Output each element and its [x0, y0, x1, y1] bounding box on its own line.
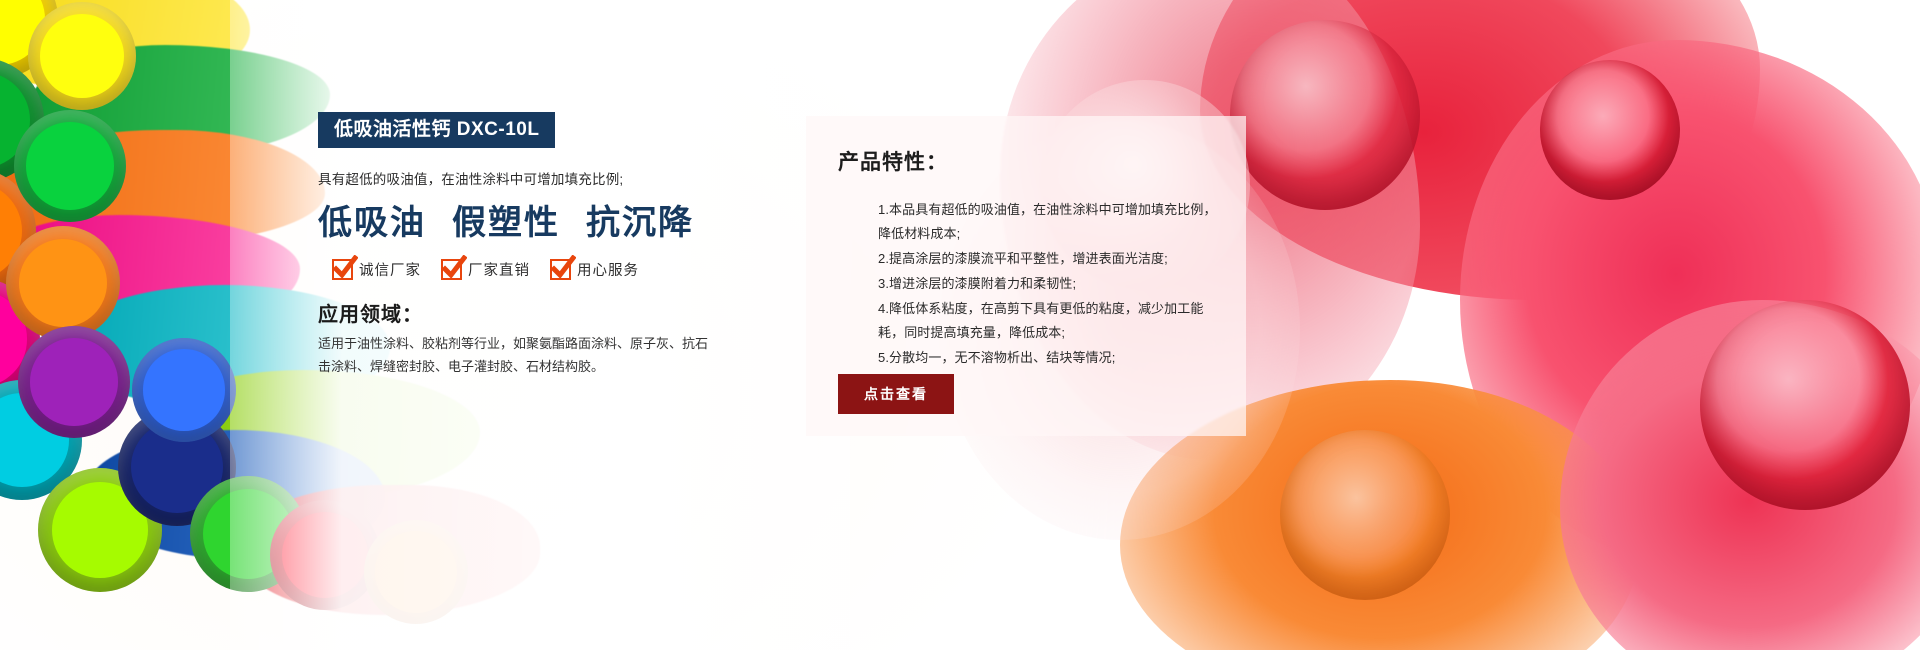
paint-ring-bottom	[1280, 430, 1450, 600]
product-subtitle: 具有超低的吸油值，在油性涂料中可增加填充比例;	[318, 170, 718, 190]
trust-badge-1-label: 诚信厂家	[359, 259, 421, 280]
paint-can-purple	[18, 326, 130, 438]
headline-word-3: 抗沉降	[586, 204, 694, 242]
trust-badge-2: 厂家直销	[441, 259, 530, 280]
feature-item: 4.降低体系粘度，在高剪下具有更低的粘度，减少加工能耗，同时提高填充量，降低成本…	[878, 297, 1220, 345]
product-features-panel: 产品特性： 1.本品具有超低的吸油值，在油性涂料中可增加填充比例，降低材料成本;…	[806, 116, 1246, 436]
features-list: 1.本品具有超低的吸油值，在油性涂料中可增加填充比例，降低材料成本; 2.提高涂…	[838, 198, 1220, 370]
product-banner: 低吸油活性钙 DXC-10L 具有超低的吸油值，在油性涂料中可增加填充比例; 低…	[0, 0, 1920, 650]
application-fields-body: 适用于油性涂料、胶粘剂等行业，如聚氨酯路面涂料、原子灰、抗石击涂料、焊缝密封胶、…	[318, 333, 718, 379]
features-panel-title: 产品特性：	[838, 146, 1220, 176]
feature-item: 2.提高涂层的漆膜流平和平整性，增进表面光洁度;	[878, 247, 1220, 271]
panel-inner: 产品特性： 1.本品具有超低的吸油值，在油性涂料中可增加填充比例，降低材料成本;…	[806, 116, 1246, 370]
trust-badge-3: 用心服务	[550, 259, 639, 280]
checkbox-check-icon	[550, 259, 571, 280]
paint-can-orange-2	[6, 226, 120, 340]
trust-badge-2-label: 厂家直销	[468, 259, 530, 280]
feature-item: 1.本品具有超低的吸油值，在油性涂料中可增加填充比例，降低材料成本;	[878, 198, 1220, 246]
trust-badge-1: 诚信厂家	[332, 259, 421, 280]
view-details-button[interactable]: 点击查看	[838, 374, 954, 414]
paint-ring-top-left	[1230, 20, 1420, 210]
feature-item: 5.分散均一，无不溶物析出、结块等情况;	[878, 346, 1220, 370]
product-title-badge: 低吸油活性钙 DXC-10L	[318, 112, 555, 148]
application-fields-title: 应用领域：	[318, 298, 718, 327]
trust-badge-3-label: 用心服务	[577, 259, 639, 280]
paint-ring-right	[1700, 300, 1910, 510]
left-content-column: 低吸油活性钙 DXC-10L 具有超低的吸油值，在油性涂料中可增加填充比例; 低…	[318, 112, 718, 379]
headline-word-2: 假塑性	[452, 204, 560, 242]
paint-ring-top-right	[1540, 60, 1680, 200]
checkbox-check-icon	[332, 259, 353, 280]
trust-badges: 诚信厂家 厂家直销 用心服务	[318, 259, 718, 280]
checkbox-check-icon	[441, 259, 462, 280]
product-headline: 低吸油假塑性抗沉降	[318, 204, 718, 243]
paint-can-yellow-2	[28, 2, 136, 110]
paint-can-blue	[132, 338, 236, 442]
headline-word-1: 低吸油	[318, 204, 426, 242]
paint-can-green-2	[14, 110, 126, 222]
feature-item: 3.增进涂层的漆膜附着力和柔韧性;	[878, 272, 1220, 296]
